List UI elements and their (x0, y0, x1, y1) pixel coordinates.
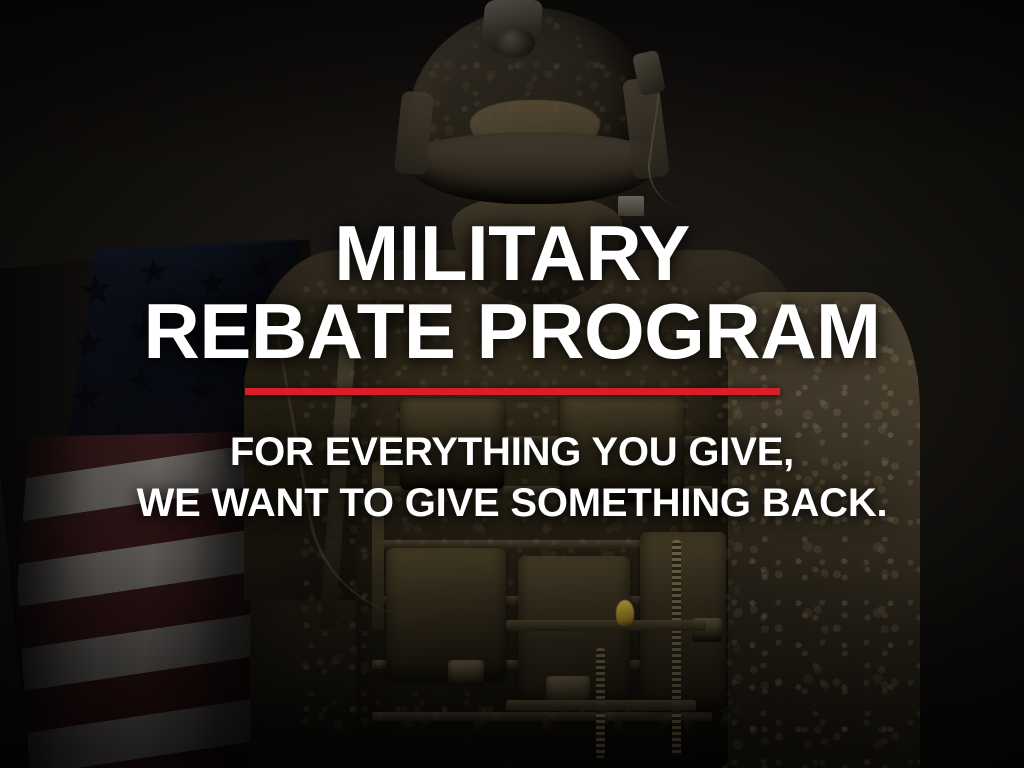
military-rebate-banner: MILITARY REBATE PROGRAM FOR EVERYTHING Y… (0, 0, 1024, 768)
red-rule-divider (245, 388, 780, 395)
banner-content: MILITARY REBATE PROGRAM FOR EVERYTHING Y… (0, 0, 1024, 768)
subheadline-line-2: WE WANT TO GIVE SOMETHING BACK. (137, 480, 888, 527)
headline-line-2: REBATE PROGRAM (144, 296, 881, 368)
headline-line-1: MILITARY (334, 218, 690, 290)
subheadline-line-1: FOR EVERYTHING YOU GIVE, (230, 429, 794, 476)
